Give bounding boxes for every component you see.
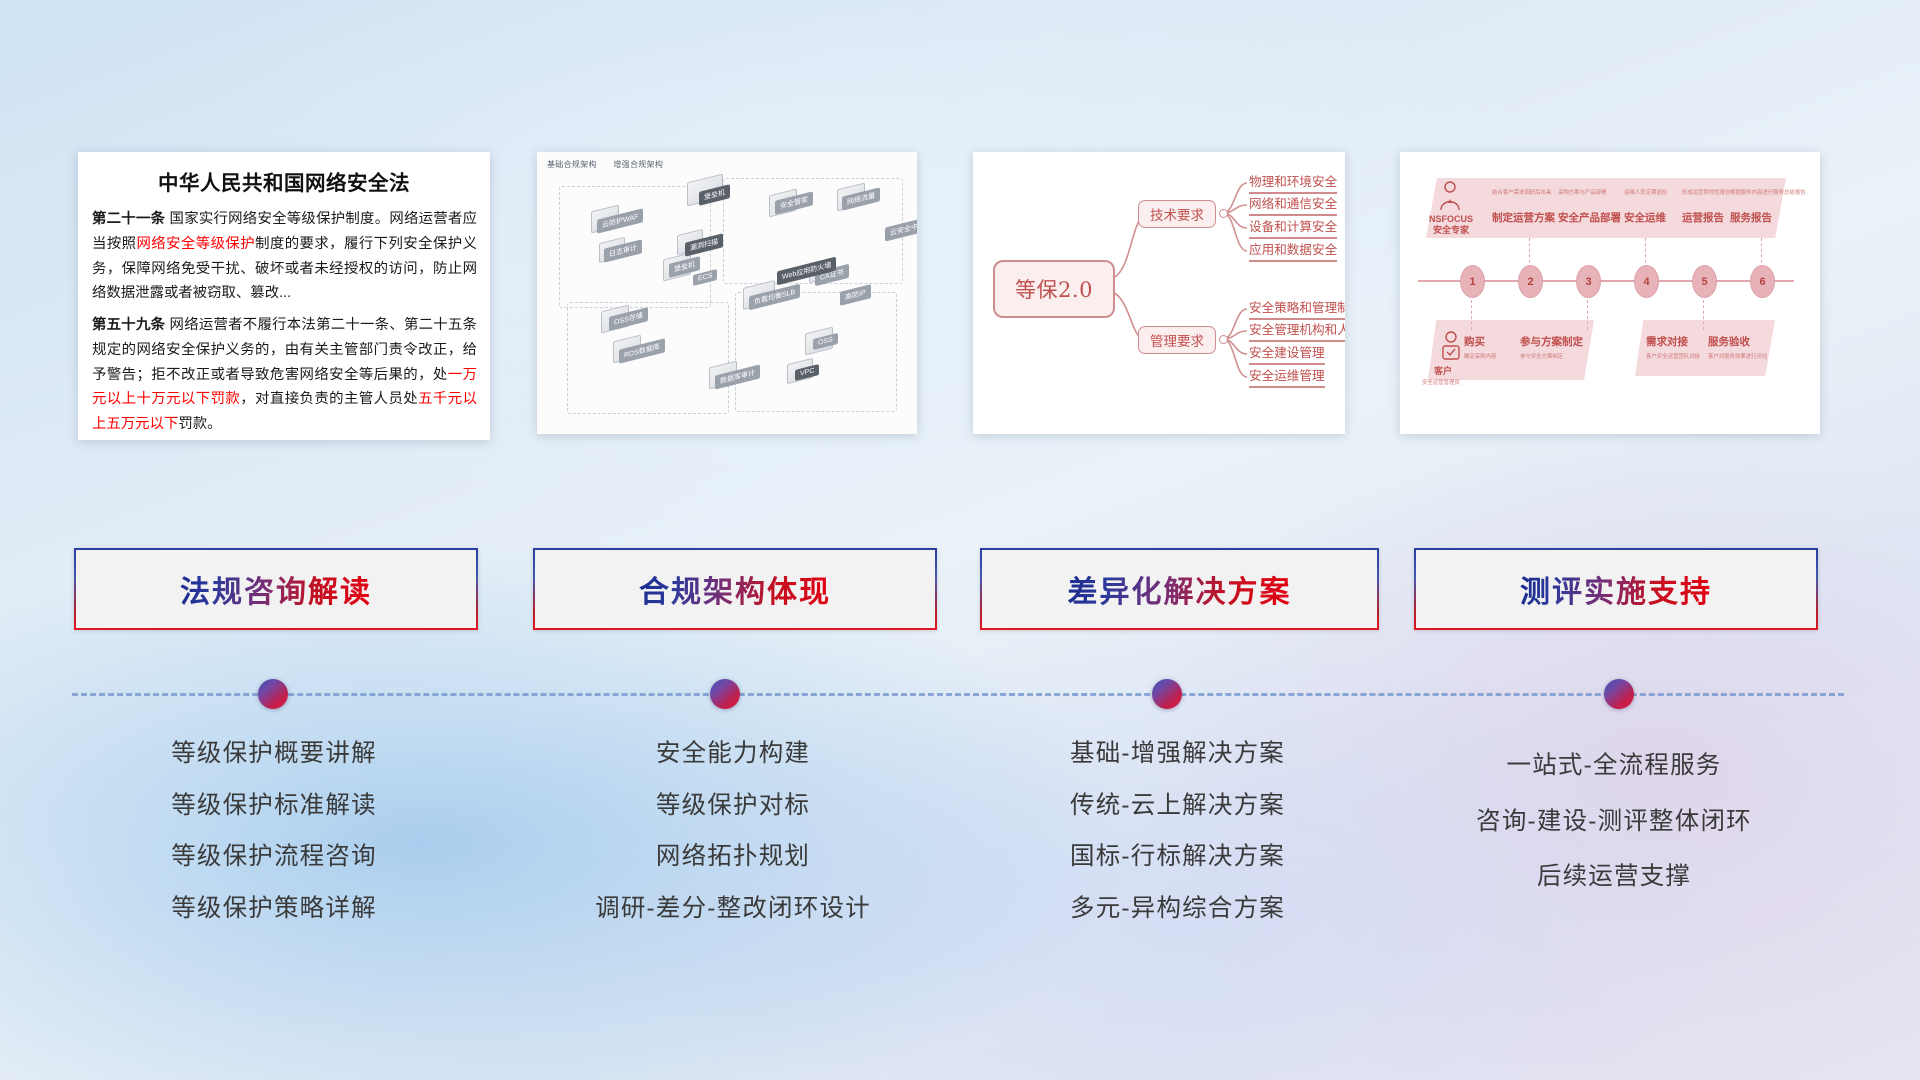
mindmap-leaf: 应用和数据安全 <box>1249 242 1337 262</box>
mindmap-leaf: 设备和计算安全 <box>1249 219 1337 239</box>
section-title-label: 合规架构体现 <box>639 567 831 611</box>
detail-list-item: 等级保护概要讲解 <box>74 742 474 767</box>
timeline-node-2[interactable] <box>710 679 740 709</box>
mindmap-root: 等保2.0 <box>993 260 1115 318</box>
timeline-bottom-sub: 确定采购内容 <box>1464 352 1496 360</box>
service-timeline: NSFOCUS 安全专家客户安全运营管理员结合客户需求调研后出具制定运营方案采购… <box>1400 152 1820 434</box>
detail-list-item: 咨询-建设-测评整体闭环 <box>1414 810 1814 835</box>
arch-header-left: 基础合规架构 <box>547 160 597 169</box>
detail-list-item: 传统-云上解决方案 <box>980 794 1375 819</box>
mindmap-leaf: 网络和通信安全 <box>1249 196 1337 216</box>
section-title-box-1[interactable]: 法规咨询解读 <box>74 548 478 630</box>
detail-list-item: 等级保护标准解读 <box>74 794 474 819</box>
timeline-step-node[interactable]: 1 <box>1460 265 1485 298</box>
timeline-top-sub: 运维人员定期巡检 <box>1624 188 1667 196</box>
timeline-bottom-sub: 参与安全方案制定 <box>1520 352 1563 360</box>
timeline-step-node[interactable]: 5 <box>1692 265 1717 298</box>
timeline-bottom-sub: 客户安全运营团队对接 <box>1646 352 1700 360</box>
timeline-node-3[interactable] <box>1152 679 1182 709</box>
timeline-connector <box>1645 238 1647 268</box>
detail-list-item: 基础-增强解决方案 <box>980 742 1375 767</box>
timeline-bottom-label: 参与方案制定 <box>1520 334 1583 349</box>
mindmap-collapse-dot[interactable] <box>1219 335 1228 344</box>
timeline-top-sub: 根据服务内容进行服务总结报告 <box>1730 188 1805 196</box>
timeline-top-label: 运营报告 <box>1682 210 1724 225</box>
mindmap-leaf: 安全管理机构和人员 <box>1249 322 1345 342</box>
timeline-step-node[interactable]: 6 <box>1750 265 1775 298</box>
timeline-role-customer: 客户 <box>1434 364 1452 377</box>
mindmap-leaf: 安全建设管理 <box>1249 345 1325 365</box>
detail-list-item: 国标-行标解决方案 <box>980 845 1375 870</box>
mindmap-leaf: 物理和环境安全 <box>1249 174 1337 194</box>
timeline-role-expert: NSFOCUS 安全专家 <box>1426 214 1476 236</box>
card-dengbao-mindmap: 等保2.0 技术要求 管理要求 物理和环境安全网络和通信安全设备和计算安全应用和… <box>973 152 1345 434</box>
timeline-top-label: 服务报告 <box>1730 210 1772 225</box>
timeline-bottom-sub: 客户对服务效果进行评估 <box>1708 352 1767 360</box>
detail-list-item: 等级保护流程咨询 <box>74 845 474 870</box>
timeline-dashed-line <box>72 693 1844 696</box>
timeline-connector <box>1761 238 1763 268</box>
timeline-top-label: 安全运维 <box>1624 210 1666 225</box>
timeline-bottom-label: 购买 <box>1464 334 1485 349</box>
detail-list-item: 多元-异构综合方案 <box>980 897 1375 922</box>
law-text: ，对直接负责的主管人员处 <box>240 391 418 407</box>
law-highlight-text: 网络安全等级保护 <box>136 236 255 252</box>
timeline-connector <box>1703 300 1705 330</box>
detail-list-4: 一站式-全流程服务咨询-建设-测评整体闭环后续运营支撑 <box>1414 754 1814 921</box>
arch-zone <box>567 302 729 414</box>
expert-person-icon <box>1436 180 1464 214</box>
law-card-body: 第二十一条 国家实行网络安全等级保护制度。网络运营者应当按照网络安全等级保护制度… <box>78 207 490 437</box>
mindmap-branch-management: 管理要求 <box>1138 326 1216 354</box>
section-title-box-4[interactable]: 测评实施支持 <box>1414 548 1818 630</box>
timeline-bottom-label: 需求对接 <box>1646 334 1688 349</box>
timeline-node-4[interactable] <box>1604 679 1634 709</box>
arch-header-right: 增强合规架构 <box>613 160 663 169</box>
detail-list-1: 等级保护概要讲解等级保护标准解读等级保护流程咨询等级保护策略详解 <box>74 742 474 948</box>
detail-list-item: 一站式-全流程服务 <box>1414 754 1814 779</box>
timeline-connector <box>1471 300 1473 330</box>
detail-list-item: 调研-差分-整改闭环设计 <box>533 897 933 922</box>
law-article-label: 第二十一条 <box>92 211 165 227</box>
law-text: 罚款。 <box>178 416 221 432</box>
mindmap-leaf: 安全策略和管理制度 <box>1249 300 1345 320</box>
mindmap-leaf: 安全运维管理 <box>1249 368 1325 388</box>
detail-list-item: 安全能力构建 <box>533 742 933 767</box>
law-paragraph: 第二十一条 国家实行网络安全等级保护制度。网络运营者应当按照网络安全等级保护制度… <box>92 207 477 306</box>
timeline-connector <box>1529 238 1531 268</box>
slide-canvas: 中华人民共和国网络安全法 第二十一条 国家实行网络安全等级保护制度。网络运营者应… <box>0 0 1920 1080</box>
card-cybersecurity-law: 中华人民共和国网络安全法 第二十一条 国家实行网络安全等级保护制度。网络运营者应… <box>78 152 490 440</box>
architecture-header-labels: 基础合规架构 增强合规架构 <box>547 159 677 170</box>
mindmap-branch-technical: 技术要求 <box>1138 200 1216 228</box>
timeline-step-node[interactable]: 2 <box>1518 265 1543 298</box>
card-compliance-architecture: 基础合规架构 增强合规架构 堡垒机安全管家网络流量云防护WAF日志审计漏洞扫描堡… <box>537 152 917 434</box>
mindmap-collapse-dot[interactable] <box>1219 209 1228 218</box>
detail-list-3: 基础-增强解决方案传统-云上解决方案国标-行标解决方案多元-异构综合方案 <box>980 742 1375 948</box>
timeline-top-sub: 形成运营阶段性报告 <box>1682 188 1731 196</box>
law-card-title: 中华人民共和国网络安全法 <box>78 166 490 196</box>
section-title-label: 差异化解决方案 <box>1068 567 1292 611</box>
law-paragraph: 第五十九条 网络运营者不履行本法第二十一条、第二十五条规定的网络安全保护义务的，… <box>92 313 477 437</box>
detail-list-item: 等级保护策略详解 <box>74 897 474 922</box>
mindmap: 等保2.0 技术要求 管理要求 物理和环境安全网络和通信安全设备和计算安全应用和… <box>973 152 1345 434</box>
detail-list-item: 后续运营支撑 <box>1414 865 1814 890</box>
section-title-box-3[interactable]: 差异化解决方案 <box>980 548 1379 630</box>
timeline-step-node[interactable]: 3 <box>1576 265 1601 298</box>
card-nsfocus-service-timeline: NSFOCUS 安全专家客户安全运营管理员结合客户需求调研后出具制定运营方案采购… <box>1400 152 1820 434</box>
timeline-step-node[interactable]: 4 <box>1634 265 1659 298</box>
timeline-connector <box>1587 300 1589 330</box>
timeline-bottom-label: 服务验收 <box>1708 334 1750 349</box>
customer-person-icon <box>1438 330 1464 364</box>
detail-list-item: 网络拓扑规划 <box>533 845 933 870</box>
detail-list-2: 安全能力构建等级保护对标网络拓扑规划调研-差分-整改闭环设计 <box>533 742 933 948</box>
timeline-node-1[interactable] <box>258 679 288 709</box>
timeline-top-sub: 采购方案与产品部署 <box>1558 188 1607 196</box>
section-title-label: 法规咨询解读 <box>180 567 372 611</box>
law-article-label: 第五十九条 <box>92 317 165 333</box>
timeline-top-label: 制定运营方案 <box>1492 210 1555 225</box>
timeline-top-sub: 结合客户需求调研后出具 <box>1492 188 1551 196</box>
timeline-top-band <box>1426 178 1786 238</box>
timeline-role-customer-sub: 安全运营管理员 <box>1422 378 1460 386</box>
section-title-box-2[interactable]: 合规架构体现 <box>533 548 937 630</box>
section-title-label: 测评实施支持 <box>1520 567 1712 611</box>
architecture-diagram: 基础合规架构 增强合规架构 堡垒机安全管家网络流量云防护WAF日志审计漏洞扫描堡… <box>537 152 917 434</box>
timeline-top-label: 安全产品部署 <box>1558 210 1621 225</box>
detail-list-item: 等级保护对标 <box>533 794 933 819</box>
